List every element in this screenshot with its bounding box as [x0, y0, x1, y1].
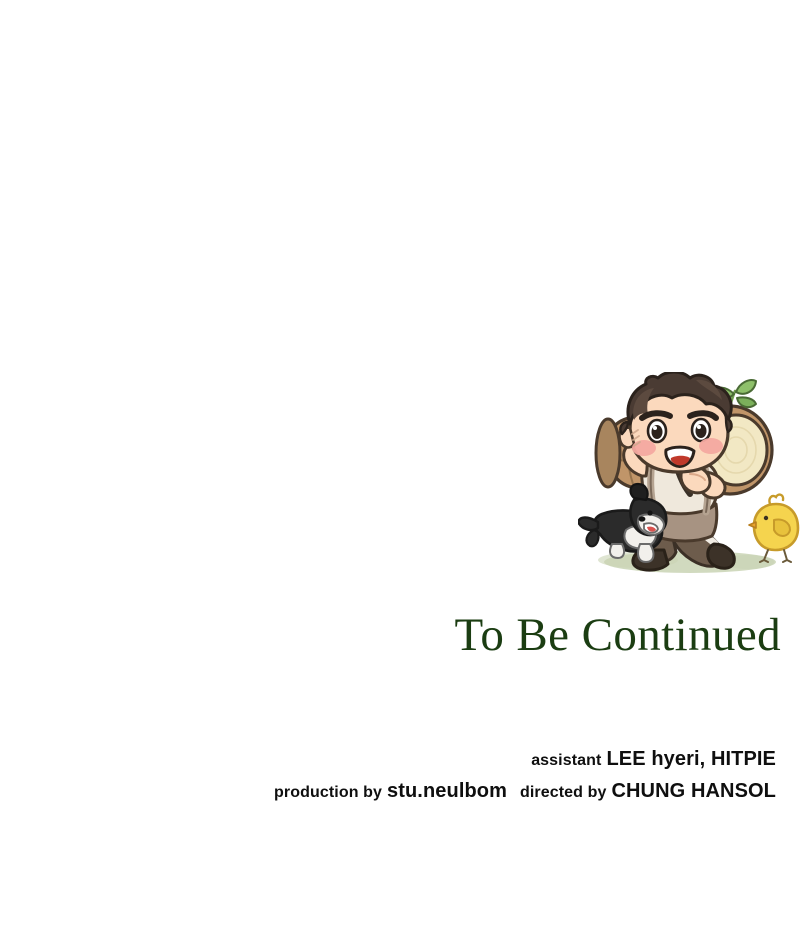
credit-role-director: directed by — [520, 784, 606, 801]
log-left-end — [596, 419, 620, 487]
to-be-continued-text: To Be Continued — [0, 606, 781, 664]
credit-role-production: production by — [274, 784, 382, 801]
credit-name-director: CHUNG HANSOL — [611, 780, 776, 802]
credit-name-production: stu.neulbom — [387, 780, 507, 802]
credit-line-assistant: assistantLEE hyeri, HITPIE — [0, 744, 776, 776]
cheek-blush-right — [699, 438, 723, 454]
comic-ending-page: To Be Continued assistantLEE hyeri, HITP… — [0, 0, 800, 932]
illustration-svg — [578, 372, 800, 594]
chick — [749, 495, 798, 562]
credit-line-production-direction: production bystu.neulbomdirected byCHUNG… — [0, 776, 776, 808]
illustration-boy-carrying-log — [578, 372, 800, 594]
cheek-blush-left — [632, 440, 656, 456]
credit-role-assistant: assistant — [531, 752, 601, 769]
credits-block: assistantLEE hyeri, HITPIE production by… — [0, 744, 776, 808]
credit-name-assistant: LEE hyeri, HITPIE — [606, 748, 776, 770]
